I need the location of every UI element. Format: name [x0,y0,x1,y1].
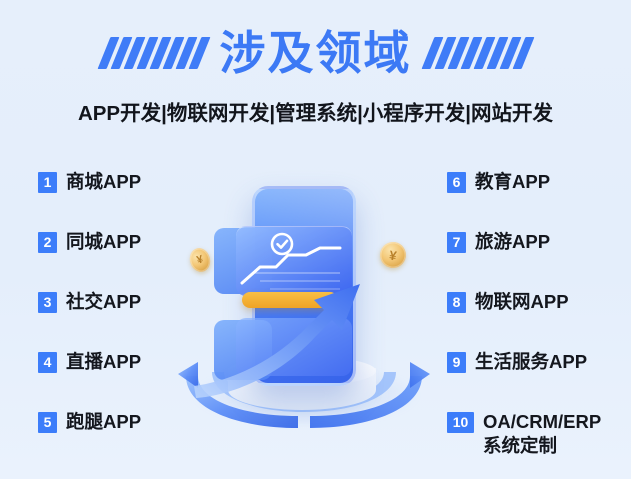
growth-arrow-icon [192,260,404,410]
stripes-left [104,36,204,70]
item-number-badge: 4 [38,352,57,373]
list-item[interactable]: 7 旅游APP [447,230,631,290]
item-number-badge: 3 [38,292,57,313]
service-list-right: 6 教育APP 7 旅游APP 8 物联网APP 9 生活服务APP 10 OA… [447,170,631,470]
header-row: 涉及领域 [0,22,631,84]
stripes-right [428,36,528,70]
list-item[interactable]: 9 生活服务APP [447,350,631,410]
item-label: 商城APP [66,170,141,194]
list-item[interactable]: 6 教育APP [447,170,631,230]
item-number-badge: 2 [38,232,57,253]
list-item[interactable]: 8 物联网APP [447,290,631,350]
hero-illustration: ¥ ¥ [168,168,468,468]
item-number-badge: 5 [38,412,57,433]
item-label: 直播APP [66,350,141,374]
item-label: 物联网APP [475,290,569,314]
check-circle-icon [272,234,292,254]
item-label: 社交APP [66,290,141,314]
item-number-badge: 1 [38,172,57,193]
page-title: 涉及领域 [220,30,412,76]
item-label: 旅游APP [475,230,550,254]
item-label: 教育APP [475,170,550,194]
item-label: OA/CRM/ERP 系统定制 [483,410,601,457]
page-subtitle: APP开发|物联网开发|管理系统|小程序开发|网站开发 [0,96,631,126]
item-label: 跑腿APP [66,410,141,434]
list-item[interactable]: 10 OA/CRM/ERP 系统定制 [447,410,631,470]
item-label: 同城APP [66,230,141,254]
poster-canvas: 涉及领域 APP开发|物联网开发|管理系统|小程序开发|网站开发 1 商城APP… [0,0,631,479]
item-label: 生活服务APP [475,350,587,374]
